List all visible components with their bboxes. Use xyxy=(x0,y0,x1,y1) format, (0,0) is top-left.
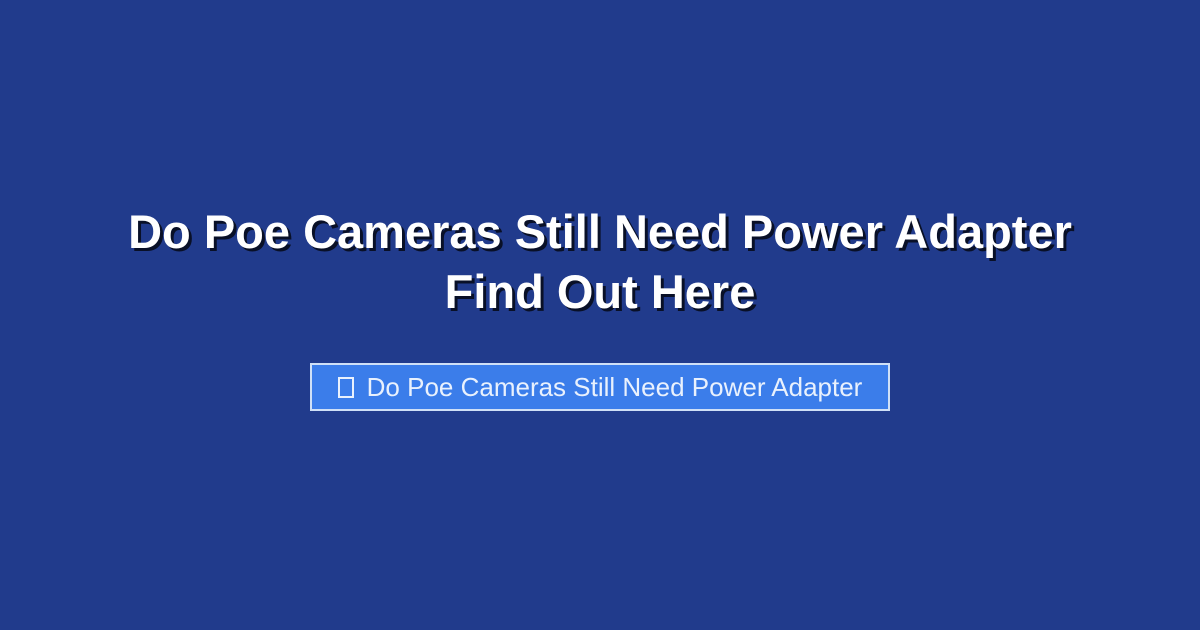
missing-glyph-box-icon xyxy=(338,377,354,398)
cta-button[interactable]: Do Poe Cameras Still Need Power Adapter xyxy=(310,363,891,411)
cta-button-label: Do Poe Cameras Still Need Power Adapter xyxy=(367,374,863,400)
card-content: Do Poe Cameras Still Need Power Adapter … xyxy=(50,202,1150,411)
cta-container: Do Poe Cameras Still Need Power Adapter xyxy=(50,363,1150,411)
og-card: Do Poe Cameras Still Need Power Adapter … xyxy=(0,0,1200,630)
page-title: Do Poe Cameras Still Need Power Adapter … xyxy=(80,202,1120,322)
